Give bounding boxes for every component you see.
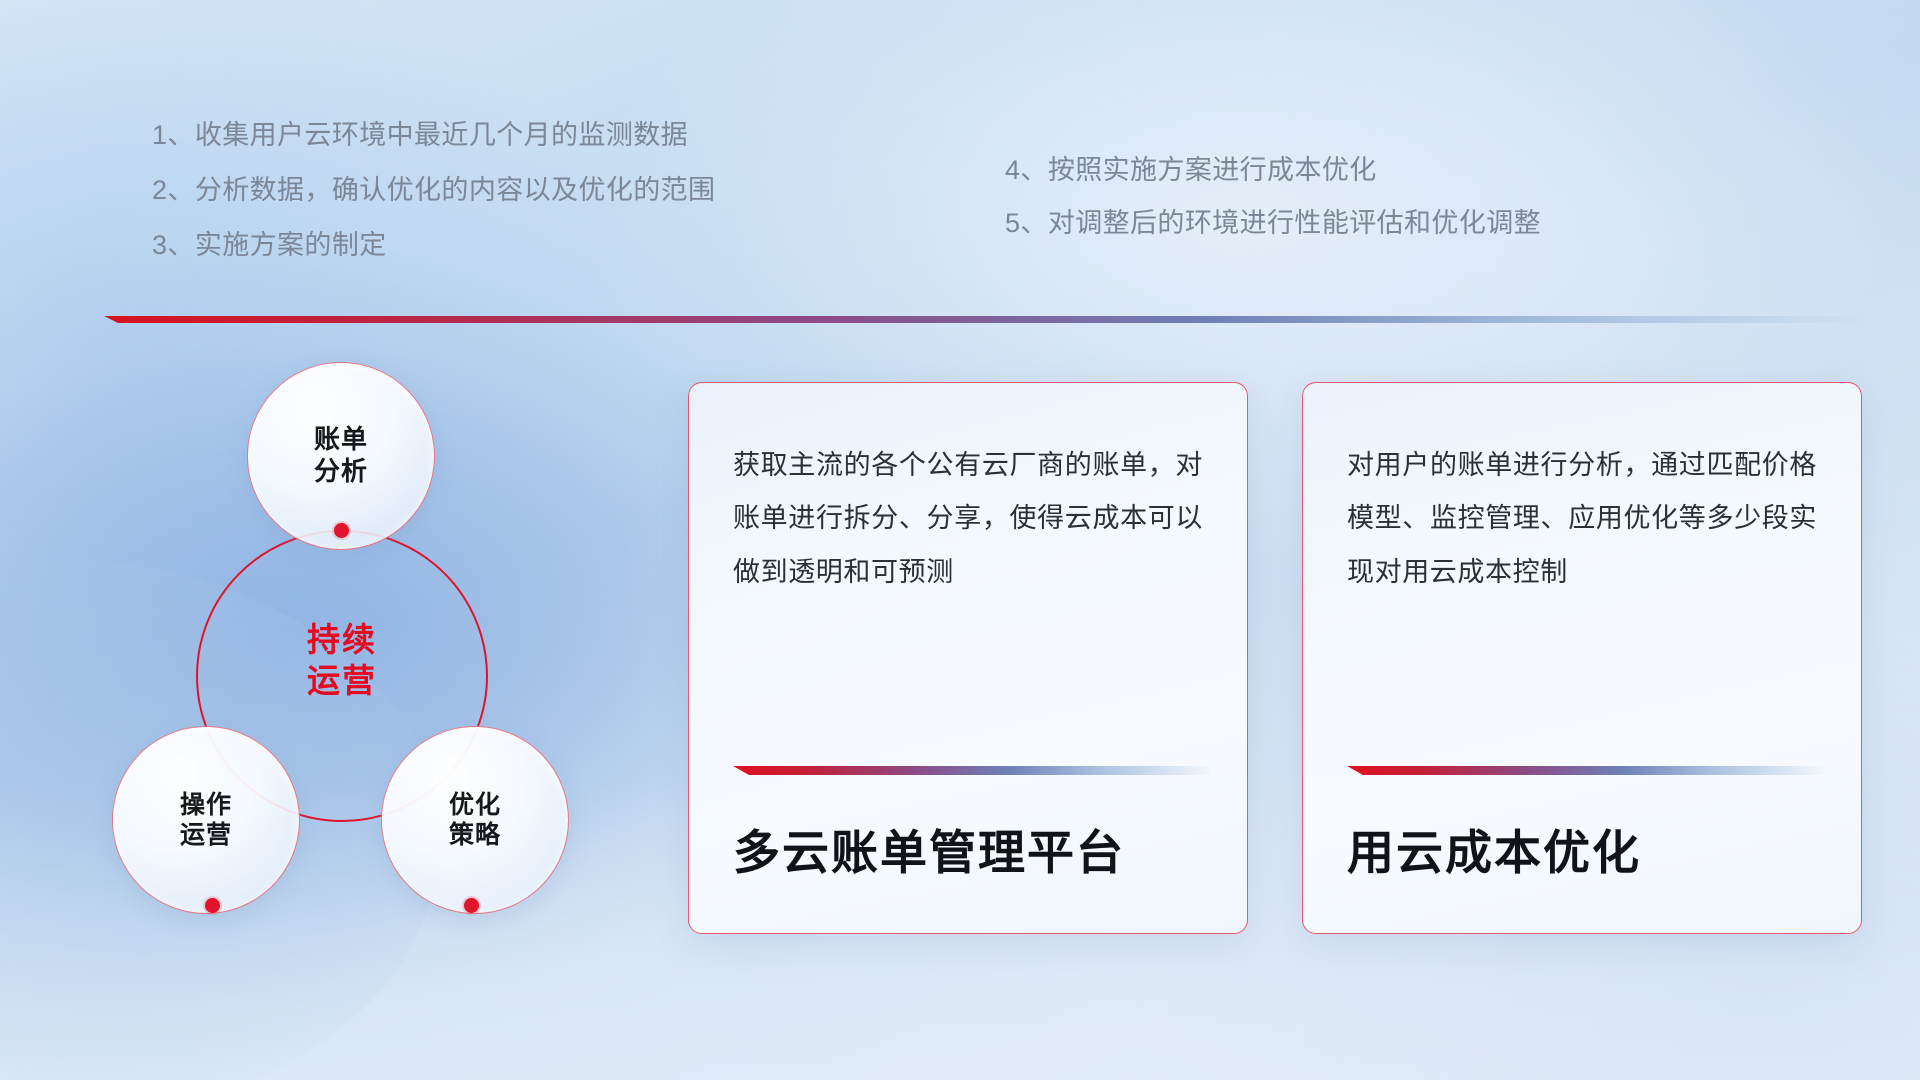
section-divider-rule: [104, 316, 1874, 323]
node-label-line2: 运营: [180, 820, 232, 851]
list-item: 4、按照实施方案进行成本优化: [1005, 157, 1541, 184]
list-item: 1、收集用户云环境中最近几个月的监测数据: [152, 122, 715, 149]
node-label-line1: 账单: [314, 424, 368, 456]
card-divider-rule: [733, 766, 1211, 775]
card-body-text: 对用户的账单进行分析，通过匹配价格模型、监控管理、应用优化等多少段实现对用云成本…: [1347, 439, 1817, 599]
node-label-line2: 分析: [314, 456, 368, 488]
connector-dot-left: [205, 898, 220, 913]
diagram-node-operation[interactable]: 操作 运营: [112, 726, 300, 914]
continuous-operation-diagram: 持续 运营 账单 分析 操作 运营 优化 策略: [96, 352, 656, 952]
slide-canvas: 1、收集用户云环境中最近几个月的监测数据 2、分析数据，确认优化的内容以及优化的…: [0, 0, 1920, 1080]
node-label-line2: 策略: [449, 820, 501, 851]
list-item: 5、对调整后的环境进行性能评估和优化调整: [1005, 210, 1541, 237]
card-divider-rule: [1347, 766, 1825, 775]
connector-dot-right: [464, 898, 479, 913]
node-label-line1: 优化: [449, 790, 501, 821]
center-label-line2: 运营: [196, 661, 488, 702]
node-label-line1: 操作: [180, 790, 232, 821]
list-item: 3、实施方案的制定: [152, 232, 715, 259]
diagram-node-optimization-strategy[interactable]: 优化 策略: [381, 726, 569, 914]
diagram-center-label: 持续 运营: [196, 620, 488, 702]
connector-dot-top: [334, 523, 349, 538]
steps-right-column: 4、按照实施方案进行成本优化 5、对调整后的环境进行性能评估和优化调整: [1005, 157, 1541, 263]
card-body-text: 获取主流的各个公有云厂商的账单，对账单进行拆分、分享，使得云成本可以做到透明和可…: [733, 439, 1203, 599]
diagram-node-bill-analysis[interactable]: 账单 分析: [247, 362, 435, 550]
list-item: 2、分析数据，确认优化的内容以及优化的范围: [152, 177, 715, 204]
center-label-line1: 持续: [196, 620, 488, 661]
card-multi-cloud-billing[interactable]: 获取主流的各个公有云厂商的账单，对账单进行拆分、分享，使得云成本可以做到透明和可…: [688, 382, 1248, 934]
card-cloud-cost-optimization[interactable]: 对用户的账单进行分析，通过匹配价格模型、监控管理、应用优化等多少段实现对用云成本…: [1302, 382, 1862, 934]
steps-left-column: 1、收集用户云环境中最近几个月的监测数据 2、分析数据，确认优化的内容以及优化的…: [152, 122, 715, 287]
card-title: 多云账单管理平台: [733, 825, 1125, 881]
card-title: 用云成本优化: [1347, 825, 1641, 881]
